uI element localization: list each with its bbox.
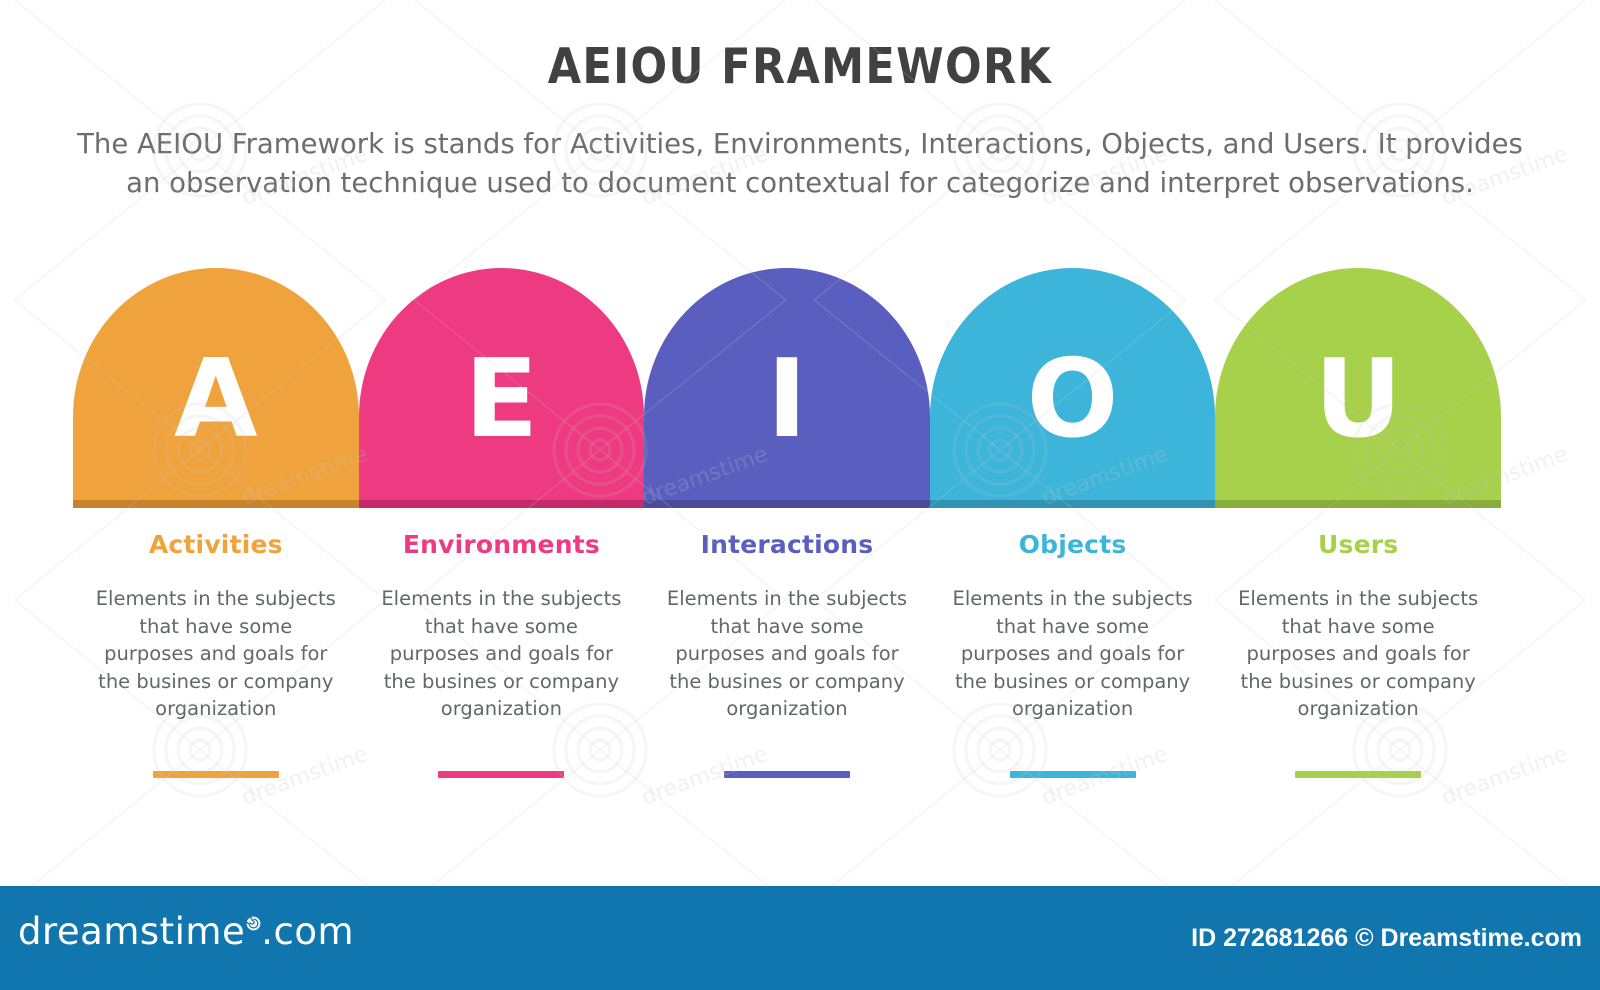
dreamstime-logo: dreamstime .com — [18, 910, 354, 953]
column-objects: Objects Elements in the subjects that ha… — [930, 530, 1216, 778]
column-rule-interactions — [724, 771, 850, 778]
arch-row: A E I O U — [73, 268, 1501, 508]
column-description-environments: Elements in the subjects that have some … — [377, 585, 625, 723]
dreamstime-logo-suffix: .com — [261, 910, 354, 953]
column-title-environments: Environments — [403, 530, 600, 559]
footer-bar: dreamstime .com ID 272681266 © Dreamstim… — [0, 886, 1600, 990]
spiral-icon — [246, 916, 261, 931]
arch-cell-activities[interactable]: A — [73, 268, 359, 508]
dreamstime-logo-text: dreamstime — [18, 910, 245, 953]
arch-cell-environments[interactable]: E — [359, 268, 645, 508]
arch-letter-u: U — [1215, 268, 1501, 508]
arch-letter-o: O — [930, 268, 1216, 508]
image-id-credit: ID 272681266 © Dreamstime.com — [1191, 924, 1582, 953]
arch-cell-users[interactable]: U — [1215, 268, 1501, 508]
column-users: Users Elements in the subjects that have… — [1215, 530, 1501, 778]
column-environments: Environments Elements in the subjects th… — [359, 530, 645, 778]
column-activities: Activities Elements in the subjects that… — [73, 530, 359, 778]
arch-cell-objects[interactable]: O — [930, 268, 1216, 508]
arch-letter-a: A — [73, 268, 359, 508]
page-subtitle: The AEIOU Framework is stands for Activi… — [75, 125, 1525, 203]
column-description-users: Elements in the subjects that have some … — [1234, 585, 1482, 723]
arch-letter-e: E — [359, 268, 645, 508]
column-description-activities: Elements in the subjects that have some … — [92, 585, 340, 723]
page-title: AEIOU FRAMEWORK — [96, 38, 1504, 95]
column-rule-users — [1295, 771, 1421, 778]
content-columns: Activities Elements in the subjects that… — [73, 530, 1501, 778]
column-title-objects: Objects — [1019, 530, 1127, 559]
column-title-interactions: Interactions — [701, 530, 874, 559]
arch-letter-i: I — [644, 268, 930, 508]
column-rule-activities — [153, 771, 279, 778]
arch-cell-interactions[interactable]: I — [644, 268, 930, 508]
column-title-activities: Activities — [149, 530, 283, 559]
column-rule-objects — [1010, 771, 1136, 778]
column-description-interactions: Elements in the subjects that have some … — [663, 585, 911, 723]
column-interactions: Interactions Elements in the subjects th… — [644, 530, 930, 778]
column-title-users: Users — [1318, 530, 1398, 559]
column-rule-environments — [438, 771, 564, 778]
column-description-objects: Elements in the subjects that have some … — [949, 585, 1197, 723]
